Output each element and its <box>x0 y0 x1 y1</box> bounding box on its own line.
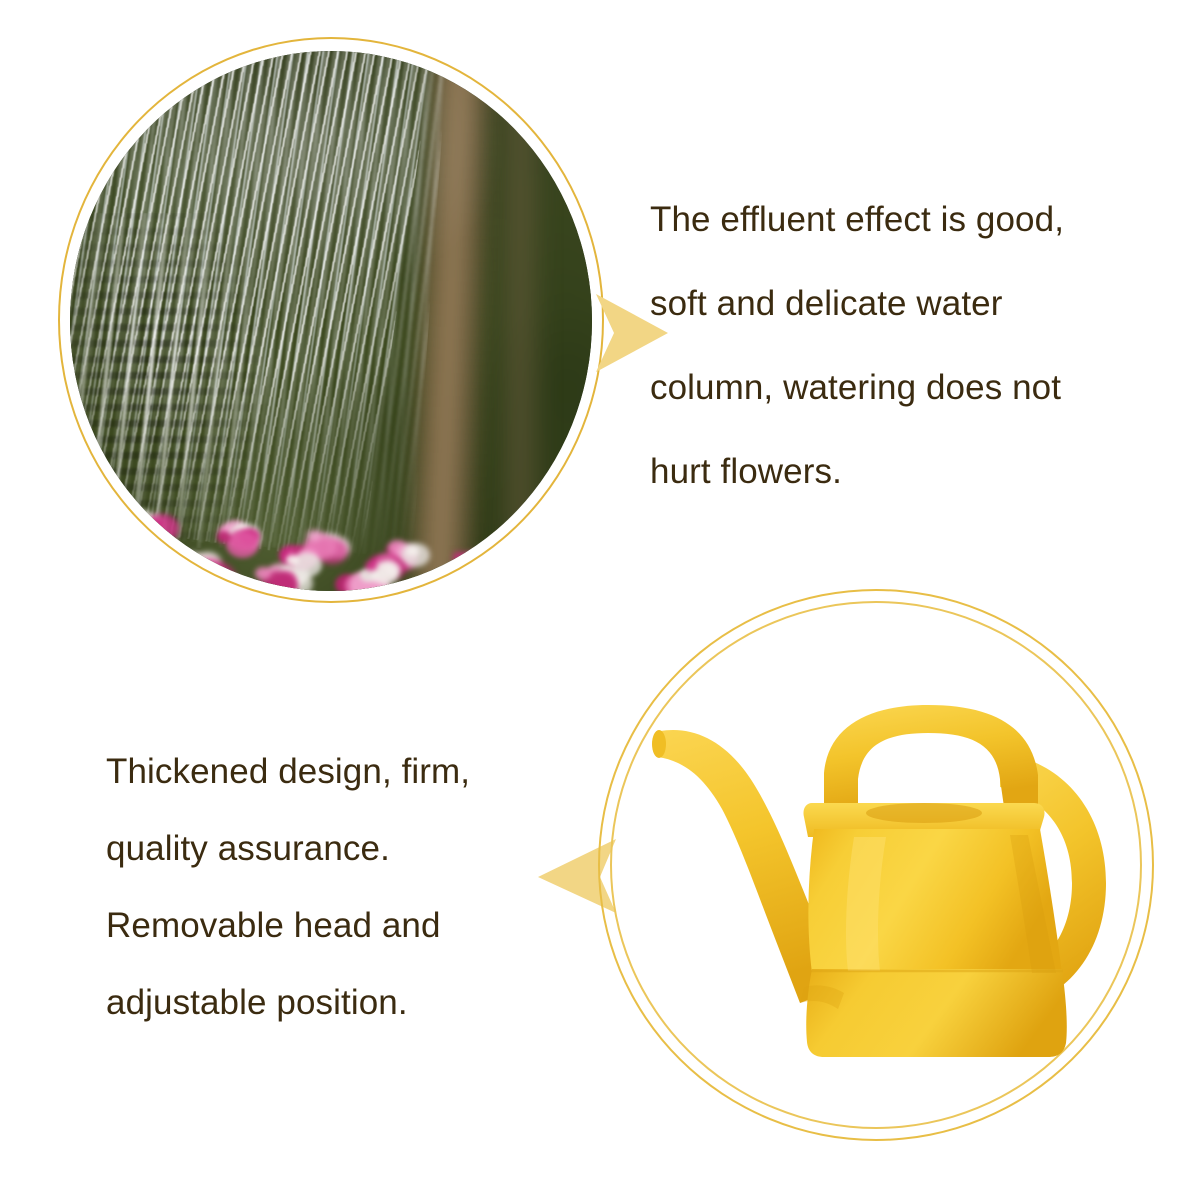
feature-text-line: soft and delicate water <box>650 262 1190 346</box>
can-spout-tip <box>652 730 666 758</box>
watering-photo-circle <box>58 37 604 603</box>
can-top-handle <box>824 705 1038 807</box>
feature-text-line: column, watering does not <box>650 346 1190 430</box>
feature-text-effluent-effect: The effluent effect is good, soft and de… <box>650 178 1190 514</box>
product-watering-can <box>628 687 1128 1059</box>
flower-blossom <box>445 587 460 591</box>
flower-blossom <box>127 563 140 573</box>
photo-gold-ring <box>58 37 604 603</box>
infographic-page: The effluent effect is good, soft and de… <box>0 0 1200 1200</box>
feature-text-line: adjustable position. <box>106 964 576 1041</box>
feature-text-line: quality assurance. <box>106 810 576 887</box>
flower-blossom <box>489 588 500 591</box>
feature-text-thickened-design: Thickened design, firm, quality assuranc… <box>106 733 576 1041</box>
can-base <box>806 969 1067 1057</box>
can-mouth-shadow <box>866 803 982 823</box>
flower-blossom <box>217 583 231 591</box>
feature-text-line: Removable head and <box>106 887 576 964</box>
product-circle-frame <box>598 589 1154 1141</box>
feature-text-line: hurt flowers. <box>650 430 1190 514</box>
feature-text-line: The effluent effect is good, <box>650 178 1190 262</box>
feature-text-line: Thickened design, firm, <box>106 733 576 810</box>
